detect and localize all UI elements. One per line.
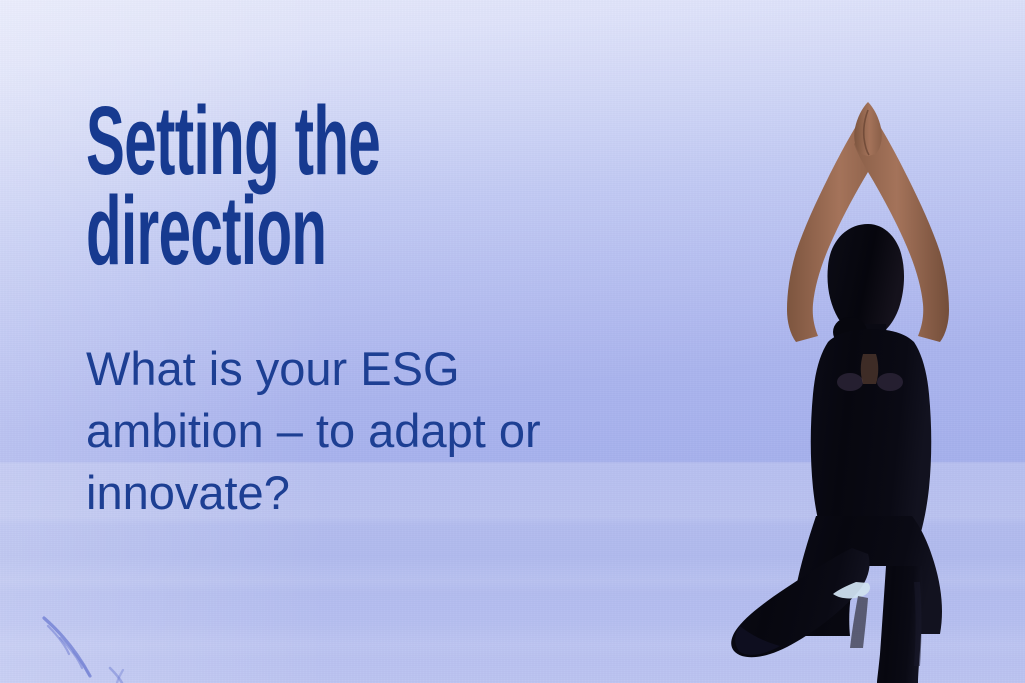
page-subtitle: What is your ESG ambition – to adapt or …: [86, 338, 676, 524]
headline-line-2: direction: [86, 186, 422, 276]
subtitle-line-2: ambition – to adapt or: [86, 400, 676, 462]
slide-canvas: Setting the direction What is your ESG a…: [0, 0, 1025, 683]
headline-line-1: Setting the: [86, 96, 422, 186]
subtitle-line-3: innovate?: [86, 462, 676, 524]
page-title: Setting the direction: [86, 96, 422, 276]
subtitle-line-1: What is your ESG: [86, 338, 676, 400]
